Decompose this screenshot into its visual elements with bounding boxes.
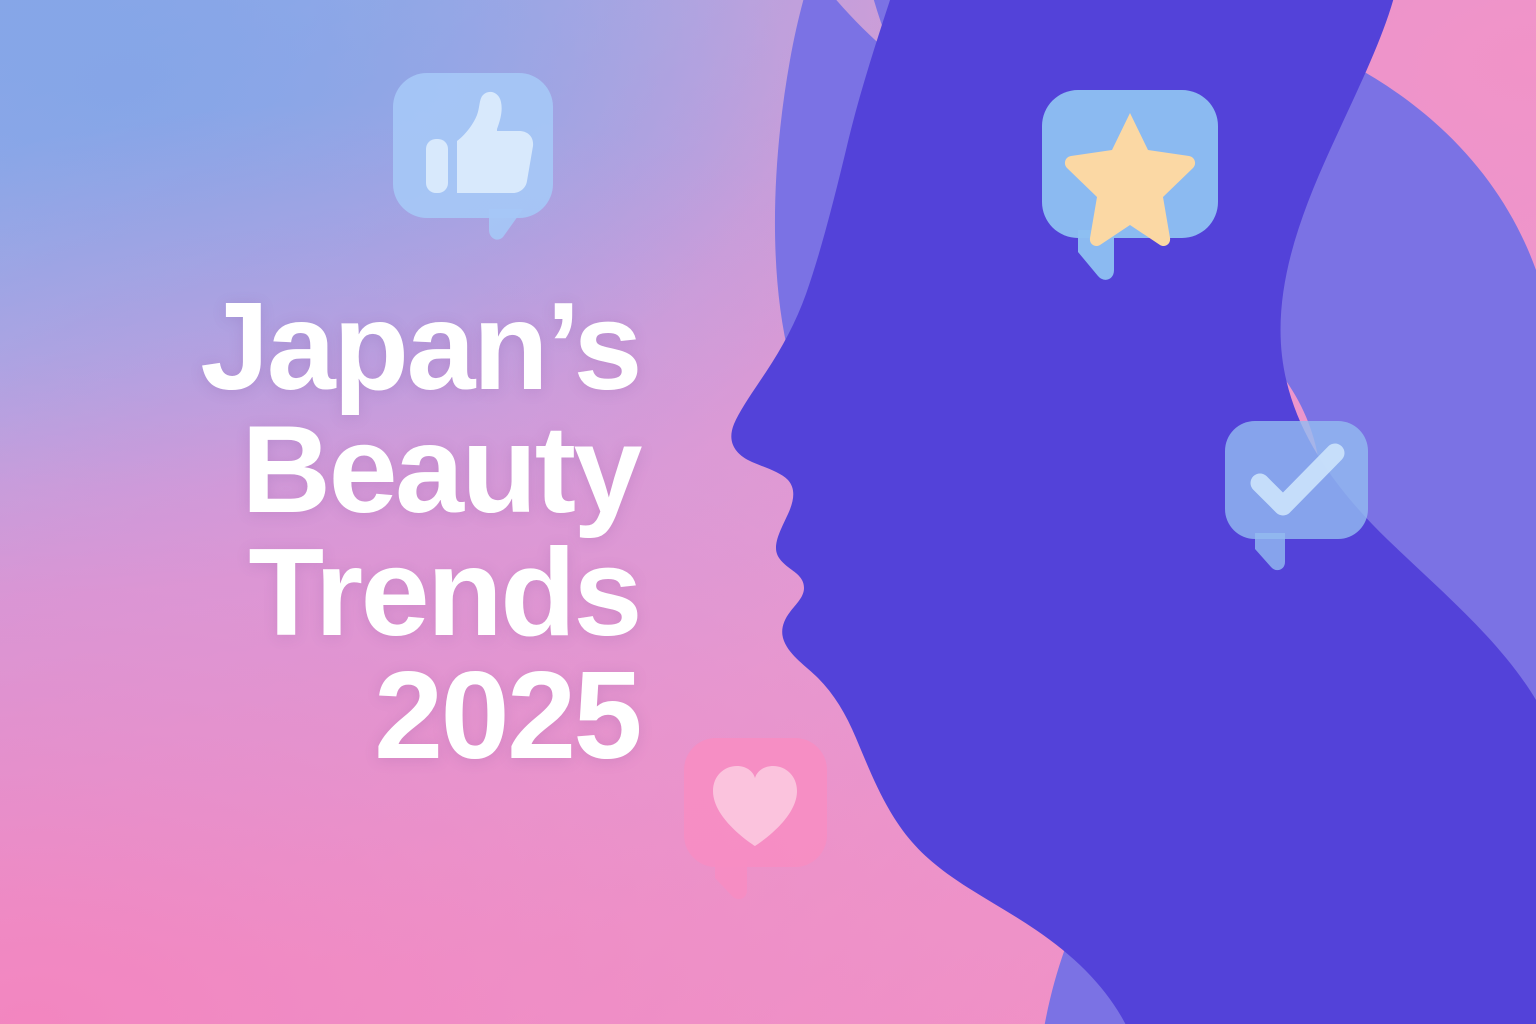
title-line-2: Beauty	[40, 409, 640, 532]
star-speech-bubble	[1042, 90, 1222, 288]
poster-canvas: Japan’s Beauty Trends 2025	[0, 0, 1536, 1024]
heart-speech-bubble	[684, 738, 834, 903]
title-line-1: Japan’s	[40, 286, 640, 409]
page-title: Japan’s Beauty Trends 2025	[40, 286, 640, 778]
title-line-3: Trends	[40, 532, 640, 655]
title-line-4: 2025	[40, 655, 640, 778]
thumbs-up-speech-bubble	[393, 73, 555, 239]
check-speech-bubble	[1225, 421, 1373, 573]
